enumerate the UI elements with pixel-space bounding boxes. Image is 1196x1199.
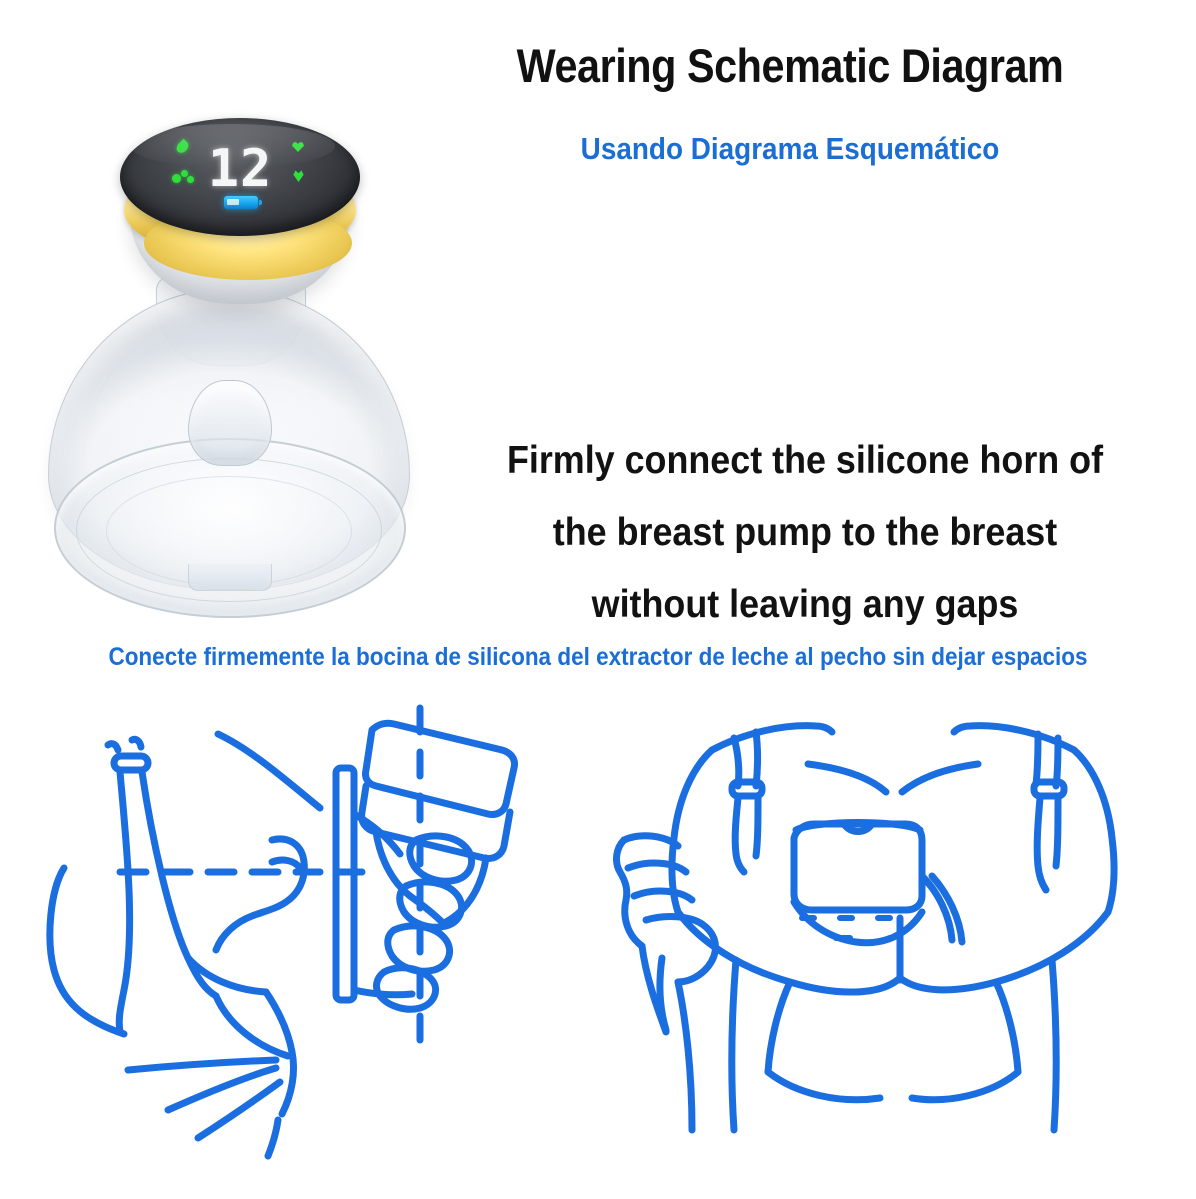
- illustration-front-view-pump-in-bra: [600, 690, 1180, 1160]
- display-bezel: 12: [120, 118, 360, 236]
- page-title: Wearing Schematic Diagram: [438, 38, 1142, 93]
- pump-device-outline: [794, 824, 922, 910]
- product-image: 12: [18, 108, 438, 628]
- finger-2: [628, 863, 686, 872]
- bubbles-icon: [172, 170, 196, 186]
- collarbone-left: [808, 764, 886, 792]
- horn-nipple-tunnel: [188, 380, 272, 466]
- instruction-line-1: Firmly connect the silicone horn of: [451, 425, 1159, 497]
- display-digits: 12: [208, 143, 273, 195]
- silicone-horn-assembly: [48, 288, 408, 618]
- horn-base-foot: [188, 564, 272, 591]
- pump-top-cap: [365, 723, 514, 814]
- heart-icon: [292, 140, 308, 154]
- finger-top: [624, 836, 678, 846]
- pump-mid-band: [362, 786, 510, 858]
- finger-4: [377, 968, 436, 1009]
- instruction-caption-spanish: Conecte firmemente la bocina de silicona…: [60, 643, 1136, 672]
- led-display: 12: [120, 118, 360, 236]
- shoulder-left: [712, 726, 832, 750]
- strap-adjuster-buckle: [114, 756, 148, 770]
- thumb-knuckle-line: [272, 860, 300, 868]
- bra-cup-right: [900, 912, 1108, 990]
- instruction-line-2: the breast pump to the breast: [451, 497, 1159, 569]
- page-subtitle-spanish: Usando Diagrama Esquemático: [430, 131, 1150, 167]
- display-level-value: 12: [194, 140, 286, 198]
- strap-buckle-right: [1034, 782, 1064, 796]
- finger-2: [400, 882, 462, 927]
- instruction-text: Firmly connect the silicone horn of the …: [451, 425, 1159, 641]
- finger-4: [646, 917, 702, 924]
- instruction-line-3: without leaving any gaps: [451, 569, 1159, 641]
- massage-mode-icon: [292, 170, 308, 184]
- milk-drop-icon: [176, 140, 192, 154]
- strap-tip-left: [108, 744, 118, 750]
- battery-icon: [224, 196, 258, 209]
- illustration-side-view-inserting-pump: [20, 690, 580, 1160]
- finger-3: [634, 891, 692, 900]
- illustrations-row: [0, 690, 1196, 1190]
- bra-panel-edge: [336, 768, 354, 1000]
- collarbone-right: [902, 764, 978, 792]
- pump-motor-unit: 12: [116, 118, 364, 308]
